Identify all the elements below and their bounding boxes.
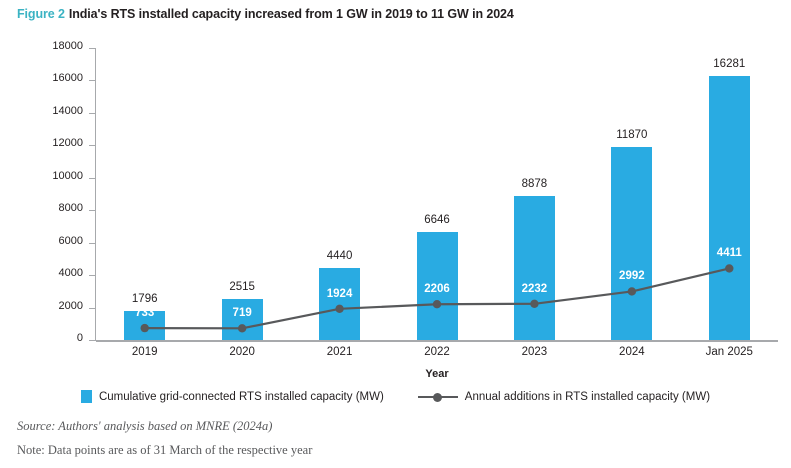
x-tick-label: 2021 xyxy=(292,346,388,358)
line-value-label: 733 xyxy=(100,307,190,319)
y-tick-mark xyxy=(89,113,95,114)
y-tick-mark xyxy=(89,178,95,179)
bar-value-label: 1796 xyxy=(100,293,190,305)
bar[interactable] xyxy=(514,196,555,340)
bar[interactable] xyxy=(611,147,652,340)
legend-item-line[interactable]: Annual additions in RTS installed capaci… xyxy=(418,391,710,403)
line-value-label: 1924 xyxy=(295,288,385,300)
y-tick-label: 16000 xyxy=(52,72,83,84)
y-tick-mark xyxy=(89,275,95,276)
x-tick-label: 2019 xyxy=(97,346,193,358)
bar[interactable] xyxy=(319,268,360,340)
legend-line-marker-icon xyxy=(418,391,458,402)
chart-legend: Cumulative grid-connected RTS installed … xyxy=(0,390,791,403)
y-tick-mark xyxy=(89,340,95,341)
y-tick-label: 18000 xyxy=(52,40,83,52)
figure-number: Figure 2 xyxy=(17,7,65,21)
x-tick-label: 2023 xyxy=(486,346,582,358)
bar-value-label: 2515 xyxy=(197,281,287,293)
figure-container: Figure 2India's RTS installed capacity i… xyxy=(0,0,791,468)
bar-value-label: 16281 xyxy=(684,58,774,70)
x-tick-label: 2022 xyxy=(389,346,485,358)
bar-value-label: 6646 xyxy=(392,214,482,226)
y-tick-label: 0 xyxy=(77,332,83,344)
y-tick-mark xyxy=(89,48,95,49)
bar-value-label: 8878 xyxy=(489,178,579,190)
legend-bar-label: Cumulative grid-connected RTS installed … xyxy=(99,391,384,403)
y-axis-line xyxy=(95,48,96,341)
legend-bar-swatch-icon xyxy=(81,390,92,403)
bar[interactable] xyxy=(222,299,263,340)
legend-line-label: Annual additions in RTS installed capaci… xyxy=(465,391,710,403)
source-note: Source: Authors' analysis based on MNRE … xyxy=(17,419,272,434)
line-value-label: 4411 xyxy=(684,247,774,259)
bar[interactable] xyxy=(709,76,750,340)
legend-item-bar[interactable]: Cumulative grid-connected RTS installed … xyxy=(81,390,384,403)
y-tick-label: 14000 xyxy=(52,105,83,117)
y-tick-mark xyxy=(89,80,95,81)
x-tick-label: Jan 2025 xyxy=(681,346,777,358)
bar-value-label: 4440 xyxy=(295,250,385,262)
line-value-label: 2232 xyxy=(489,283,579,295)
y-tick-label: 4000 xyxy=(59,267,83,279)
y-tick-label: 6000 xyxy=(59,235,83,247)
y-tick-label: 12000 xyxy=(52,137,83,149)
y-tick-mark xyxy=(89,308,95,309)
line-value-label: 719 xyxy=(197,307,287,319)
x-axis-line xyxy=(96,340,778,342)
y-tick-mark xyxy=(89,243,95,244)
y-tick-label: 2000 xyxy=(59,300,83,312)
line-value-label: 2992 xyxy=(587,270,677,282)
data-note: Note: Data points are as of 31 March of … xyxy=(17,443,312,458)
x-tick-label: 2024 xyxy=(584,346,680,358)
figure-title-text: India's RTS installed capacity increased… xyxy=(69,7,514,21)
line-value-label: 2206 xyxy=(392,283,482,295)
y-tick-mark xyxy=(89,210,95,211)
figure-title: Figure 2India's RTS installed capacity i… xyxy=(17,7,514,21)
y-tick-label: 8000 xyxy=(59,202,83,214)
bar-value-label: 11870 xyxy=(587,129,677,141)
x-axis-title: Year xyxy=(96,368,778,380)
x-tick-label: 2020 xyxy=(194,346,290,358)
y-tick-label: 10000 xyxy=(52,170,83,182)
y-tick-mark xyxy=(89,145,95,146)
